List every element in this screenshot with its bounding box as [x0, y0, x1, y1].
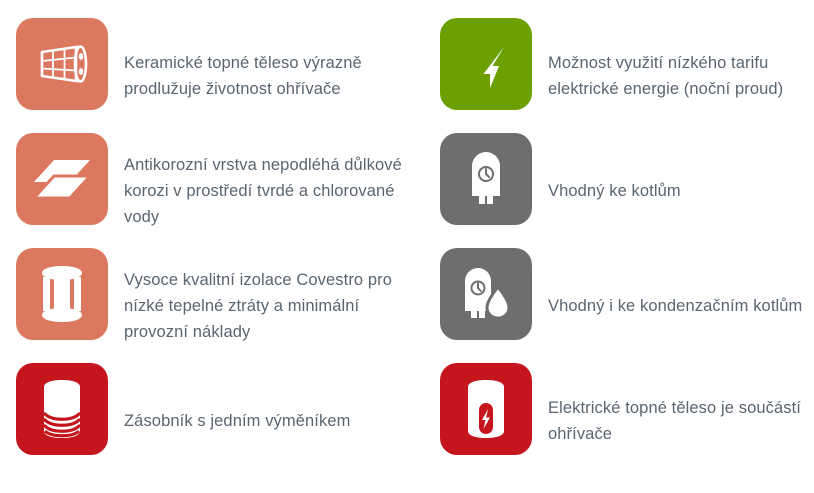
stacked-layers-icon [30, 156, 94, 202]
icon-tile-low-tariff [440, 18, 532, 110]
icon-tile-ceramic-heating-element [16, 18, 108, 110]
feature-item-condensing-boilers: Vhodný i ke kondenzačním kotlům [427, 248, 814, 363]
icon-tile-suitable-for-boilers [440, 133, 532, 225]
icon-tile-single-exchanger-tank [16, 363, 108, 455]
feature-label: Zásobník s jedním výměníkem [108, 408, 358, 434]
features-grid: Keramické topné těleso výrazně prodlužuj… [0, 0, 814, 493]
feature-label: Vhodný i ke kondenzačním kotlům [532, 293, 810, 319]
boiler-icon [462, 150, 510, 208]
icon-tile-anticorrosion-layer [16, 133, 108, 225]
feature-item-suitable-for-boilers: Vhodný ke kotlům [427, 133, 814, 248]
insulated-cylinder-icon [34, 264, 90, 324]
icon-tile-electric-heating-element [440, 363, 532, 455]
tank-with-coil-icon [38, 378, 86, 440]
feature-label: Keramické topné těleso výrazně prodlužuj… [108, 50, 427, 102]
feature-label: Antikorozní vrstva nepodléhá důlkové kor… [108, 152, 427, 230]
feature-item-low-tariff: Možnost využití nízkého tarifu elektrick… [427, 18, 814, 133]
condensing-boiler-droplet-icon [457, 265, 515, 323]
feature-item-covestro-insulation: Vysoce kvalitní izolace Covestro pro níz… [0, 248, 427, 363]
feature-label: Vysoce kvalitní izolace Covestro pro níz… [108, 267, 427, 345]
ceramic-heating-element-icon [31, 39, 93, 89]
feature-item-anticorrosion-layer: Antikorozní vrstva nepodléhá důlkové kor… [0, 133, 427, 248]
feature-item-single-exchanger-tank: Zásobník s jedním výměníkem [0, 363, 427, 478]
feature-label: Elektrické topné těleso je součástí ohří… [532, 395, 814, 447]
feature-label: Vhodný ke kotlům [532, 178, 689, 204]
feature-item-electric-heating-element: Elektrické topné těleso je součástí ohří… [427, 363, 814, 478]
icon-tile-covestro-insulation [16, 248, 108, 340]
feature-label: Možnost využití nízkého tarifu elektrick… [532, 50, 814, 102]
moon-lightning-icon [457, 36, 515, 92]
tank-with-lightning-icon [462, 378, 510, 440]
feature-item-ceramic-heating-element: Keramické topné těleso výrazně prodlužuj… [0, 18, 427, 133]
icon-tile-condensing-boilers [440, 248, 532, 340]
